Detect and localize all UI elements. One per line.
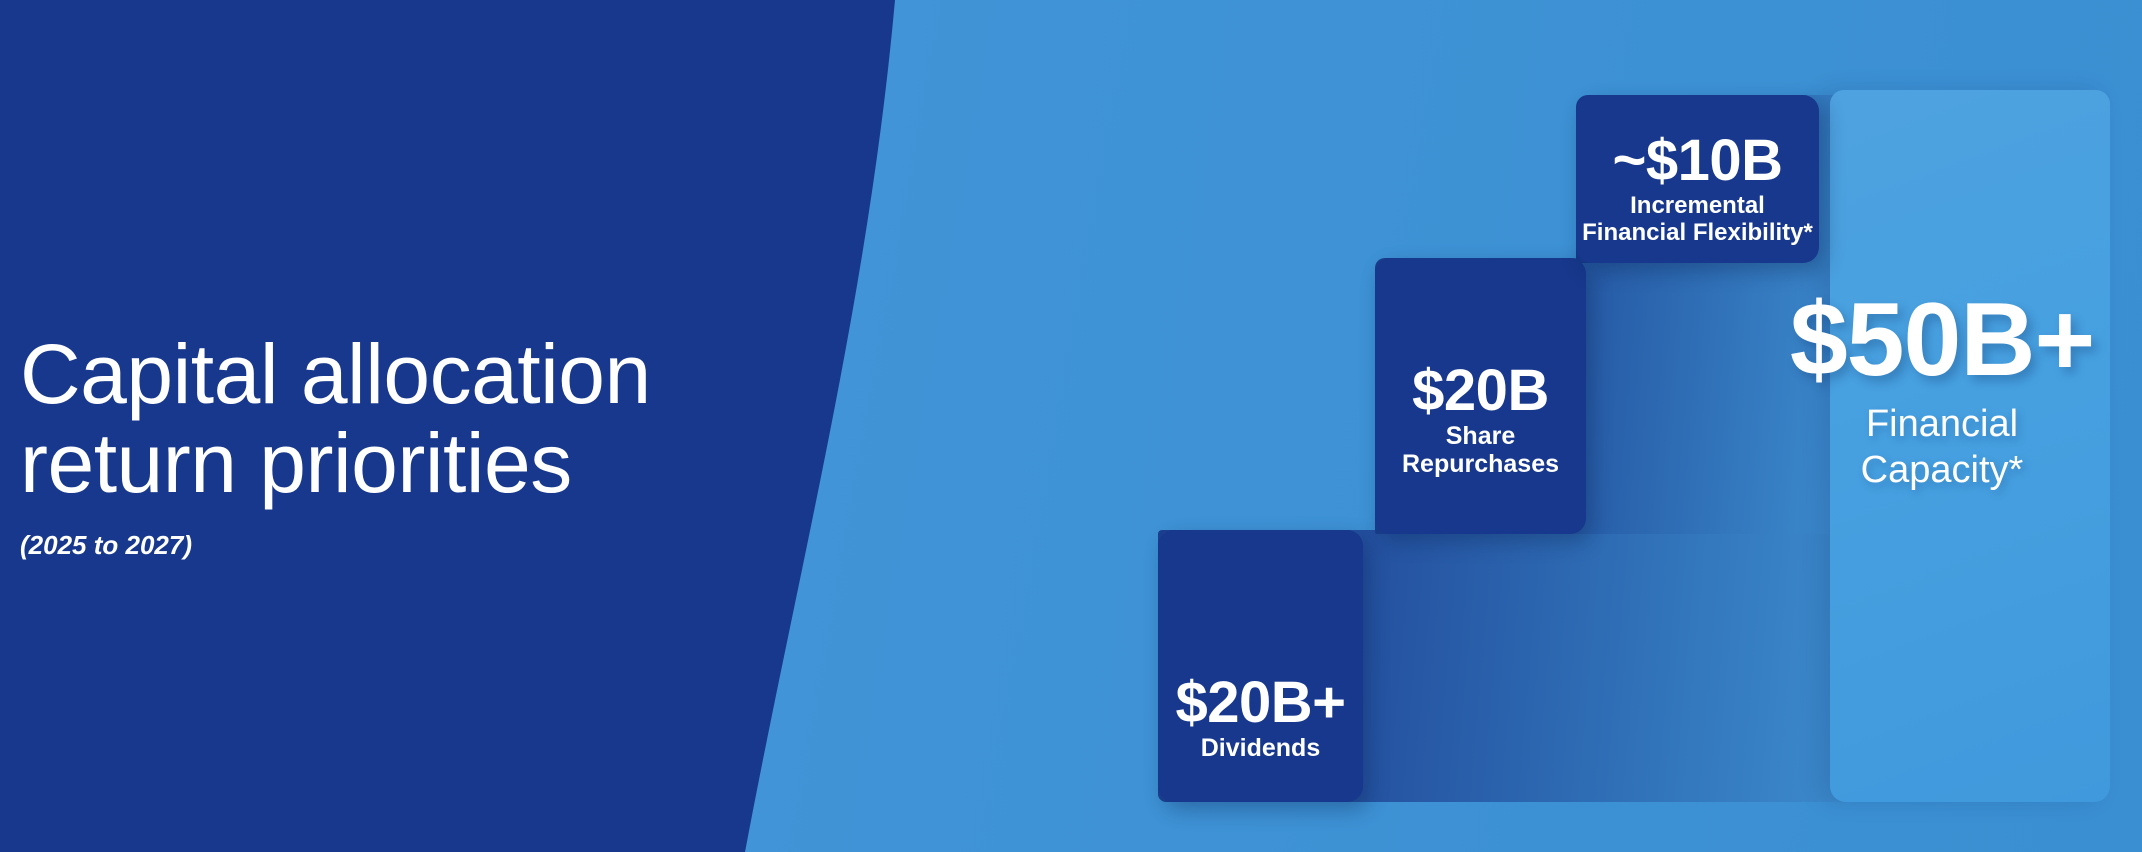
card-financial-flexibility: ~$10B Incremental Financial Flexibility* [1576, 95, 1819, 263]
page-title: Capital allocation return priorities (20… [20, 330, 840, 561]
flexibility-amount: ~$10B [1612, 133, 1782, 190]
flexibility-caption-line2: Financial Flexibility* [1582, 220, 1813, 247]
title-line-2: return priorities [20, 419, 840, 508]
card-dividends: $20B+ Dividends [1158, 530, 1363, 802]
capacity-caption: Financial Capacity* [1742, 402, 2142, 493]
financial-capacity-label: $50B+ Financial Capacity* [1742, 288, 2142, 493]
capacity-caption-line2: Capacity* [1742, 448, 2142, 494]
title-line-1: Capital allocation [20, 330, 840, 419]
repurchases-caption-line1: Share [1402, 422, 1559, 450]
dividends-caption: Dividends [1201, 734, 1320, 762]
flexibility-caption-line1: Incremental [1582, 193, 1813, 220]
flexibility-caption: Incremental Financial Flexibility* [1582, 193, 1813, 247]
card-share-repurchases: $20B Share Repurchases [1375, 258, 1586, 534]
capital-allocation-infographic: $20B+ Dividends $20B Share Repurchases ~… [0, 0, 2142, 852]
capacity-amount: $50B+ [1742, 288, 2142, 392]
repurchases-caption-line2: Repurchases [1402, 450, 1559, 478]
title-period: (2025 to 2027) [20, 530, 840, 561]
capacity-caption-line1: Financial [1742, 402, 2142, 448]
repurchases-caption: Share Repurchases [1402, 422, 1559, 478]
repurchases-amount: $20B [1412, 363, 1549, 420]
dividends-amount: $20B+ [1175, 675, 1345, 732]
